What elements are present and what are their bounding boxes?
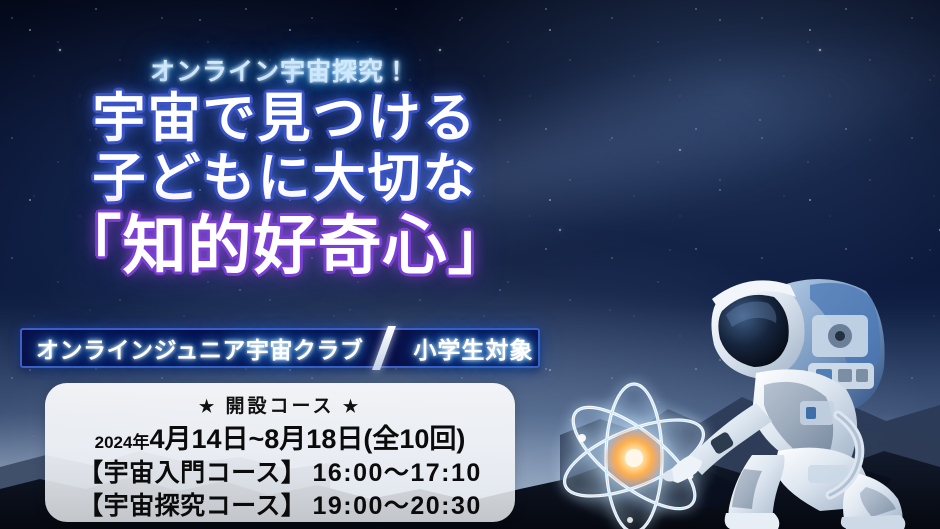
banner-slash-divider — [371, 330, 397, 366]
course-row-2: 【宇宙探究コース】19:00〜20:30 — [59, 490, 501, 523]
star-icon-left: ★ — [199, 397, 217, 416]
course-name-1: 【宇宙入門コース】 — [78, 459, 306, 487]
course-date-year: 2024年 — [95, 433, 150, 452]
headline-line-2: 子どもに大切な — [0, 152, 570, 206]
course-date-row: 2024年4月14日~8月18日(全10回) — [59, 422, 501, 457]
tagline: オンライン宇宙探究！ — [0, 52, 560, 88]
course-date-range: 4月14日~8月18日(全10回) — [149, 424, 465, 454]
course-info-panel: ★ 開設コース ★ 2024年4月14日~8月18日(全10回) 【宇宙入門コー… — [45, 383, 515, 522]
headline-line-3: 「知的好奇心」 — [0, 214, 570, 279]
course-name-2: 【宇宙探究コース】 — [78, 492, 306, 520]
headline: 宇宙で見つける 子どもに大切な 「知的好奇心」 — [0, 92, 570, 279]
headline-line-1: 宇宙で見つける — [0, 92, 570, 146]
course-info-heading-label: 開設コース — [225, 396, 334, 417]
astronaut-illustration — [660, 255, 940, 529]
program-banner: オンラインジュニア宇宙クラブ 小学生対象 — [20, 328, 540, 368]
course-rows: 2024年4月14日~8月18日(全10回) 【宇宙入門コース】16:00〜17… — [45, 422, 515, 522]
course-time-2: 19:00〜20:30 — [312, 492, 481, 520]
course-info-heading: ★ 開設コース ★ — [45, 391, 515, 418]
banner-audience: 小学生対象 — [397, 331, 533, 365]
star-icon-right: ★ — [343, 397, 361, 416]
banner-program-name: オンラインジュニア宇宙クラブ — [22, 331, 363, 365]
course-row-1: 【宇宙入門コース】16:00〜17:10 — [59, 457, 501, 490]
poster-canvas: オンライン宇宙探究！ 宇宙で見つける 子どもに大切な 「知的好奇心」 オンライン… — [0, 0, 940, 529]
course-time-1: 16:00〜17:10 — [312, 459, 481, 487]
